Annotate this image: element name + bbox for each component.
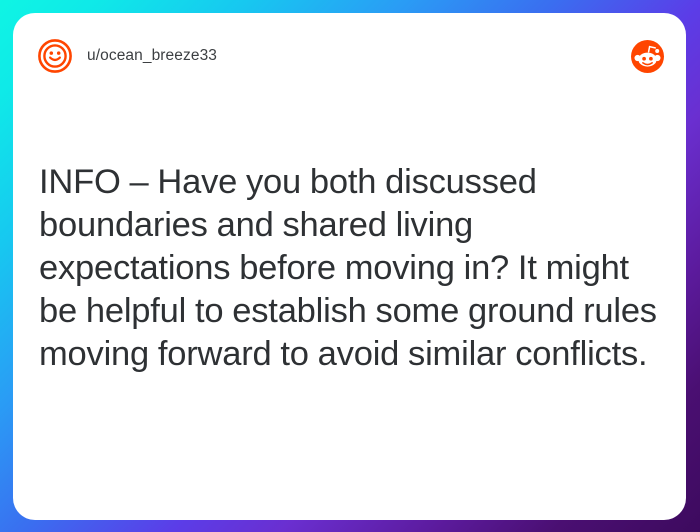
post-text: INFO – Have you both discussed boundarie…	[39, 161, 657, 376]
reddit-post-card: u/ocean_breeze33 INFO – Have you both di…	[13, 13, 686, 520]
post-header: u/ocean_breeze33	[13, 13, 686, 99]
reddit-alien-icon[interactable]	[631, 40, 664, 73]
smiley-face-icon[interactable]	[37, 38, 73, 74]
gradient-background: u/ocean_breeze33 INFO – Have you both di…	[0, 0, 700, 532]
username-label: u/ocean_breeze33	[87, 47, 217, 65]
post-body: INFO – Have you both discussed boundarie…	[39, 161, 657, 376]
